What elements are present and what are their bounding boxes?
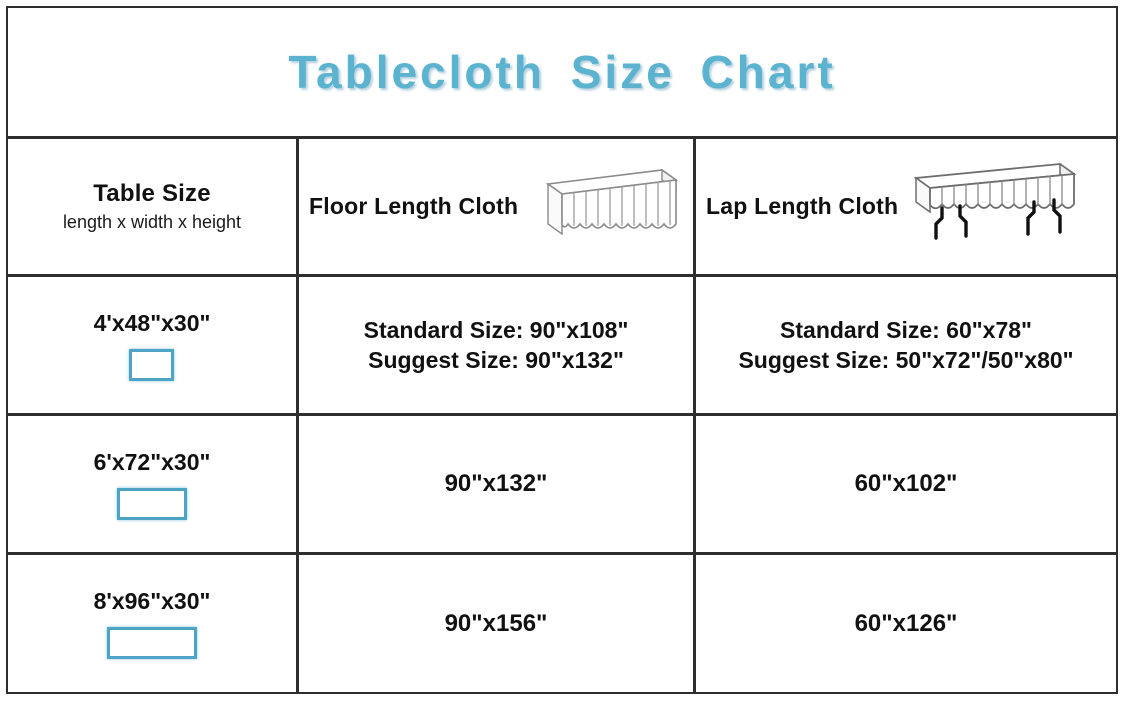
lap-length-tablecloth-icon xyxy=(902,156,1080,257)
header-lap-length-title: Lap Length Cloth xyxy=(706,193,898,220)
table-shape-swatch xyxy=(107,627,197,659)
floor-suggest-size: Suggest Size: 90"x132" xyxy=(364,345,629,375)
table-row: 4'x48"x30" Standard Size: 90"x108" Sugge… xyxy=(8,277,1116,416)
cell-floor-length: 90"x132" xyxy=(299,416,696,552)
lap-size-value: 60"x126" xyxy=(855,608,958,640)
floor-size-value: 90"x156" xyxy=(445,608,548,640)
lap-suggest-size: Suggest Size: 50"x72"/50"x80" xyxy=(738,345,1073,375)
table-size-value: 4'x48"x30" xyxy=(94,310,211,337)
header-table-size-title: Table Size xyxy=(63,179,241,209)
chart-title-row: Tablecloth Size Chart xyxy=(8,8,1116,139)
table-size-value: 8'x96"x30" xyxy=(94,588,211,615)
header-cell-floor-length: Floor Length Cloth xyxy=(299,139,696,274)
cell-floor-length: 90"x156" xyxy=(299,555,696,692)
floor-length-tablecloth-icon xyxy=(522,162,680,251)
table-shape-swatch xyxy=(117,488,187,520)
floor-size-value: 90"x132" xyxy=(445,468,548,500)
header-table-size-subtitle: length x width x height xyxy=(63,211,241,234)
header-cell-lap-length: Lap Length Cloth xyxy=(696,139,1116,274)
tablecloth-size-chart: Tablecloth Size Chart Table Size length … xyxy=(6,6,1118,694)
table-size-value: 6'x72"x30" xyxy=(94,449,211,476)
lap-standard-size: Standard Size: 60"x78" xyxy=(738,315,1073,345)
header-floor-length-title: Floor Length Cloth xyxy=(309,193,518,220)
table-row: 6'x72"x30" 90"x132" 60"x102" xyxy=(8,416,1116,555)
cell-lap-length: Standard Size: 60"x78" Suggest Size: 50"… xyxy=(696,277,1116,413)
table-shape-swatch xyxy=(129,349,174,381)
cell-lap-length: 60"x126" xyxy=(696,555,1116,692)
cell-lap-length: 60"x102" xyxy=(696,416,1116,552)
floor-standard-size: Standard Size: 90"x108" xyxy=(364,315,629,345)
size-table: Table Size length x width x height Floor… xyxy=(8,139,1116,692)
table-header-row: Table Size length x width x height Floor… xyxy=(8,139,1116,277)
page-title: Tablecloth Size Chart xyxy=(288,45,835,99)
cell-floor-length: Standard Size: 90"x108" Suggest Size: 90… xyxy=(299,277,696,413)
cell-table-size: 4'x48"x30" xyxy=(8,277,299,413)
table-row: 8'x96"x30" 90"x156" 60"x126" xyxy=(8,555,1116,692)
lap-size-value: 60"x102" xyxy=(855,468,958,500)
cell-table-size: 8'x96"x30" xyxy=(8,555,299,692)
header-cell-table-size: Table Size length x width x height xyxy=(8,139,299,274)
cell-table-size: 6'x72"x30" xyxy=(8,416,299,552)
